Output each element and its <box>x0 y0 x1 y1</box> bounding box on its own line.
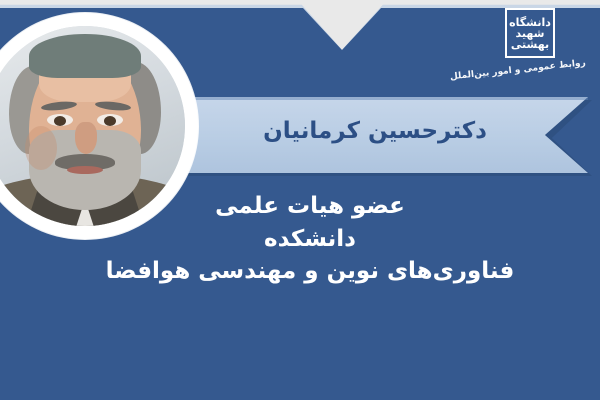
logo-subtext: روابط عمومی و امور بین‌الملل <box>474 58 586 80</box>
university-seal-icon: دانشگاه شهید بهشتی <box>505 8 555 58</box>
affiliation-line-1: عضو هیات علمی <box>40 190 580 223</box>
faculty-affiliation: عضو هیات علمی دانشکده فناوری‌های نوین و … <box>40 190 580 288</box>
faculty-profile-card: دکترحسین کرمانیان <box>0 0 600 400</box>
logo-line-3: بهشتی <box>511 39 549 50</box>
affiliation-line-3: فناوری‌های نوین و مهندسی هوافضا <box>40 255 580 288</box>
logo-line-1: دانشگاه <box>509 17 551 28</box>
affiliation-line-2: دانشکده <box>40 223 580 256</box>
logo-line-2: شهید <box>516 28 545 39</box>
faculty-name: دکترحسین کرمانیان <box>210 118 540 144</box>
university-logo: دانشگاه شهید بهشتی روابط عمومی و امور بی… <box>474 8 586 92</box>
